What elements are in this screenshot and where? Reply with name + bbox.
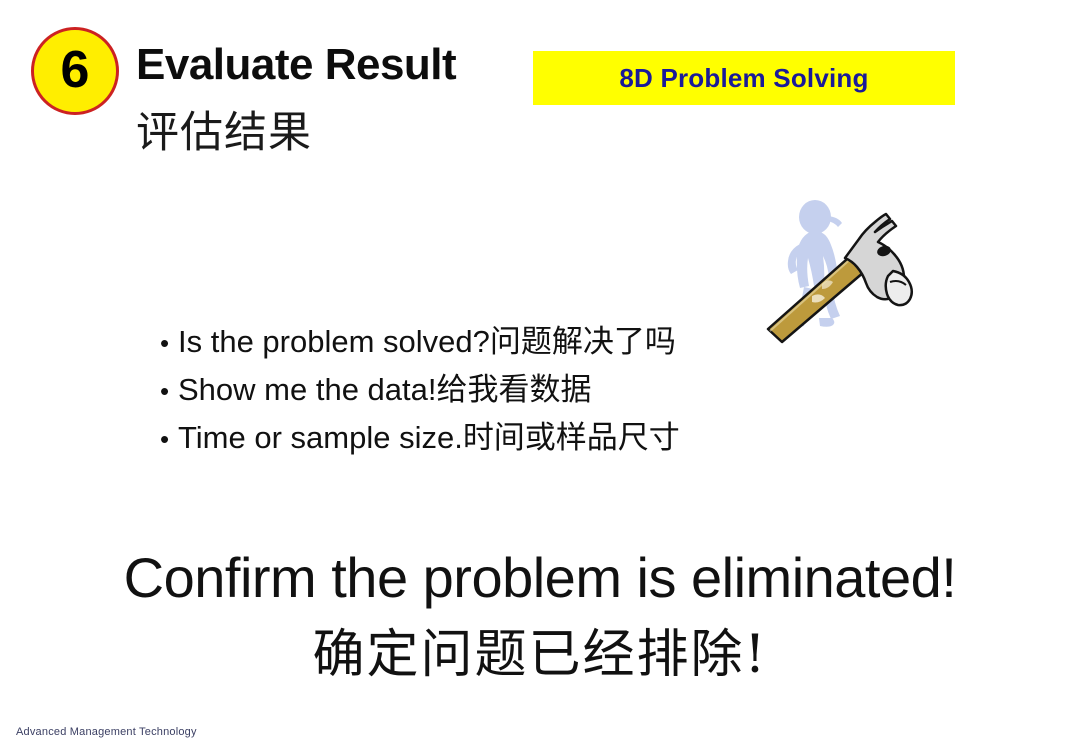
footer-text: Advanced Management Technology <box>16 726 197 738</box>
bullet-text-english: Show me the data! <box>178 372 437 407</box>
list-item: • Is the problem solved?问题解决了吗 <box>160 316 880 364</box>
bullet-text-chinese: 时间或样品尺寸 <box>463 420 680 456</box>
step-number-label: 6 <box>61 44 90 96</box>
banner-8d-problem-solving: 8D Problem Solving <box>533 51 955 105</box>
bullet-text: Show me the data!给我看数据 <box>178 364 592 409</box>
slide-canvas: 6 Evaluate Result 评估结果 8D Problem Solvin… <box>0 0 1080 748</box>
list-item: • Time or sample size.时间或样品尺寸 <box>160 412 880 460</box>
bullet-marker-icon: • <box>160 426 178 452</box>
bullet-marker-icon: • <box>160 330 178 356</box>
bullet-text-chinese: 问题解决了吗 <box>490 324 676 360</box>
banner-label: 8D Problem Solving <box>619 63 868 94</box>
bullet-text: Is the problem solved?问题解决了吗 <box>178 316 676 361</box>
bullet-text-english: Time or sample size. <box>178 420 463 455</box>
list-item: • Show me the data!给我看数据 <box>160 364 880 412</box>
conclusion-english: Confirm the problem is eliminated! <box>0 545 1080 610</box>
conclusion-chinese: 确定问题已经排除! <box>0 612 1080 687</box>
page-title-english: Evaluate Result <box>136 40 456 90</box>
bullet-marker-icon: • <box>160 378 178 404</box>
bullet-list: • Is the problem solved?问题解决了吗 • Show me… <box>160 316 880 460</box>
bullet-text-chinese: 给我看数据 <box>437 372 592 408</box>
bullet-text: Time or sample size.时间或样品尺寸 <box>178 412 680 457</box>
bullet-text-english: Is the problem solved? <box>178 324 490 359</box>
step-number-badge: 6 <box>31 27 119 115</box>
page-title-chinese: 评估结果 <box>136 98 312 160</box>
hammer-head <box>845 214 912 305</box>
